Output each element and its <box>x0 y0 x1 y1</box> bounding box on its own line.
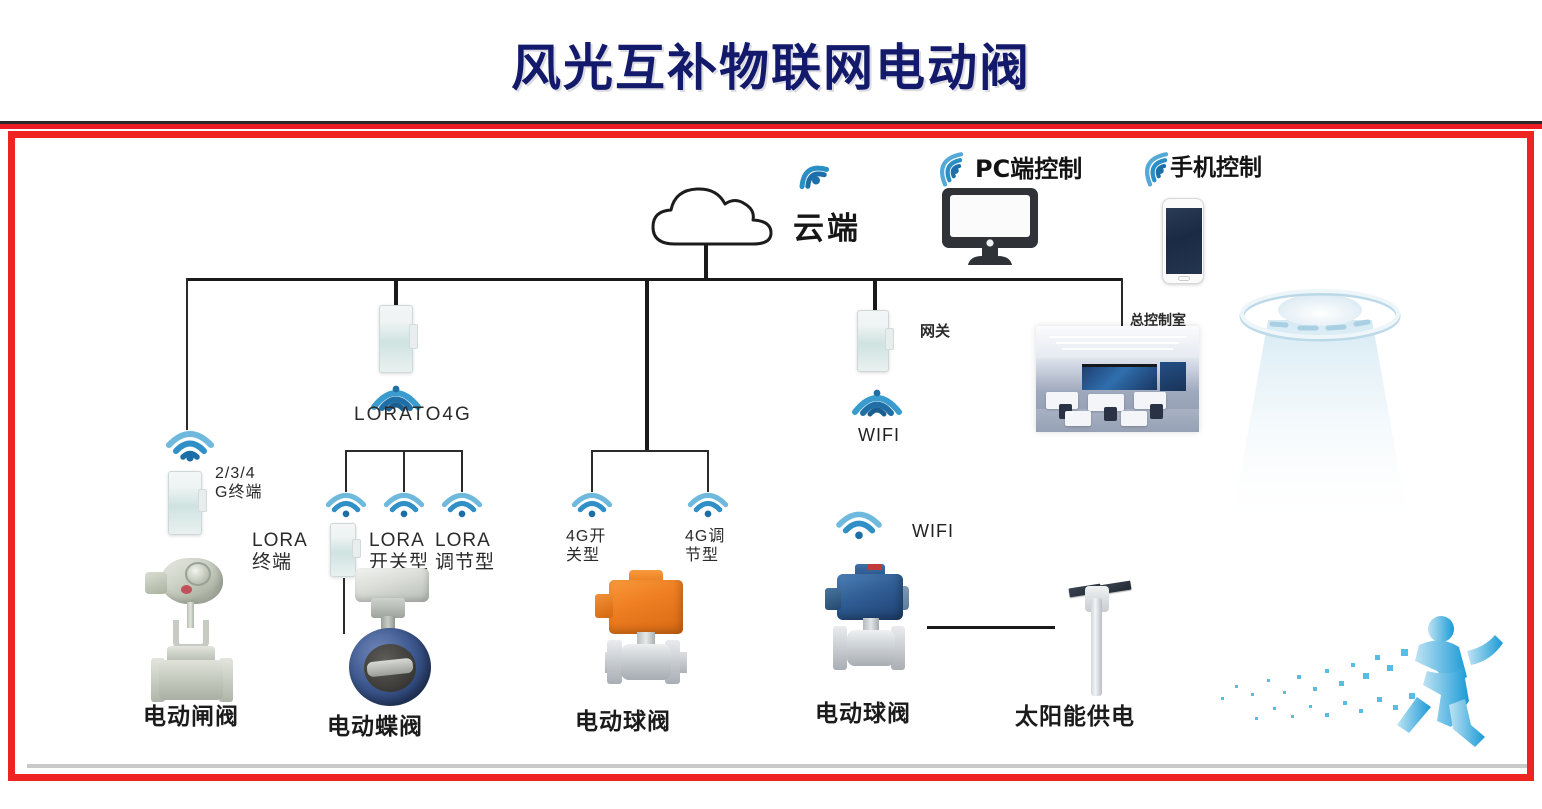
butterfly-valve-label: 电动蝶阀 <box>327 713 423 740</box>
phone-home-button <box>1178 276 1190 281</box>
lora-to-4g-label: LORATO4G <box>354 404 472 426</box>
cellular-terminal-icon <box>168 471 202 535</box>
solar-power-label: 太阳能供电 <box>1015 703 1135 730</box>
monitor-icon[interactable] <box>940 186 1040 268</box>
gateway-terminal-icon <box>857 310 889 372</box>
branch-line-cellular <box>186 278 188 430</box>
pc-control-label: PC端控制 <box>975 155 1082 183</box>
fourg-regulate-label: 4G调 节型 <box>685 528 725 566</box>
main-bus-line <box>186 278 1122 281</box>
wifi-signal-icon <box>441 486 483 520</box>
gateway-label: 网关 <box>920 323 950 341</box>
title-red-rule <box>0 124 1542 129</box>
branch-line-lora4g <box>394 278 398 308</box>
gateway-wifi-label: WIFI <box>858 425 900 446</box>
solar-link-line <box>927 626 1055 629</box>
cloud-icon <box>647 180 777 252</box>
slide-root: 风光互补物联网电动阀 <box>0 0 1542 809</box>
wifi-signal-icon <box>165 423 215 463</box>
lora-terminal-label: LORA 终端 <box>252 530 308 575</box>
wifi-signal-icon <box>851 378 903 418</box>
orange-ball-valve-icon <box>593 570 693 696</box>
gate-valve-icon <box>145 558 239 704</box>
solar-panel-icon <box>1055 558 1147 708</box>
bottom-divider <box>27 764 1527 768</box>
gate-valve-label: 电动闸阀 <box>143 703 239 730</box>
ufo-light-beam-icon <box>1210 268 1430 568</box>
page-title: 风光互补物联网电动阀 <box>0 28 1542 100</box>
fourg-switch-label: 4G开 关型 <box>566 528 606 566</box>
diagram-frame: 云端 PC端控制 <box>8 131 1534 781</box>
fourg-subbus-line <box>591 450 708 452</box>
lora-to-4g-gateway-icon <box>379 305 413 373</box>
wifi-signal-icon <box>687 486 729 520</box>
wifi-signal-icon <box>325 486 367 520</box>
cellular-terminal-label: 2/3/4 G终端 <box>215 465 262 503</box>
smartphone-icon[interactable] <box>1162 198 1204 284</box>
wifi-signal-icon <box>383 486 425 520</box>
wifi-signal-icon <box>835 504 883 542</box>
running-man-icon <box>1205 593 1505 753</box>
control-room-photo <box>1036 326 1199 432</box>
branch-line-control-room <box>1121 278 1123 326</box>
blue-ball-valve-label: 电动球阀 <box>815 700 911 727</box>
butterfly-valve-icon <box>345 568 437 714</box>
cloud-drop-line <box>704 244 708 280</box>
ball-valve-wifi-label: WIFI <box>912 521 954 542</box>
cloud-label: 云端 <box>793 211 861 248</box>
blue-ball-valve-icon <box>825 562 921 684</box>
orange-ball-valve-label: 电动球阀 <box>575 708 671 735</box>
wifi-signal-icon <box>918 138 969 190</box>
lora-regulate-label: LORA 调节型 <box>435 530 495 575</box>
wifi-signal-icon <box>780 141 836 196</box>
title-band: 风光互补物联网电动阀 <box>0 0 1542 124</box>
branch-line-4g <box>645 278 649 450</box>
wifi-signal-icon <box>1123 138 1174 190</box>
wifi-signal-icon <box>571 486 613 520</box>
branch-line-gateway <box>873 278 877 314</box>
mobile-control-label: 手机控制 <box>1170 155 1262 182</box>
phone-screen <box>1166 208 1202 274</box>
